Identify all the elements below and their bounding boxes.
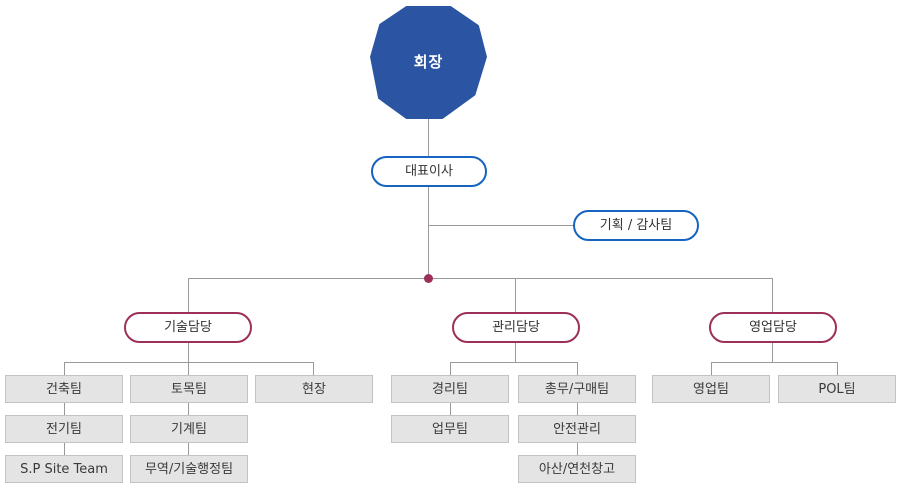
- junction-dot: [424, 274, 433, 283]
- connector-tech-c2-s2: [188, 443, 189, 455]
- connector-bus-to-tech: [188, 278, 189, 312]
- node-chairman[interactable]: 회장: [370, 6, 487, 119]
- node-team-civil-label: 토목팀: [171, 383, 207, 396]
- node-team-operations[interactable]: 업무팀: [391, 415, 509, 443]
- node-team-safety-management[interactable]: 안전관리: [518, 415, 636, 443]
- connector-admin-c2-s2: [577, 443, 578, 455]
- node-team-sp-site[interactable]: S.P Site Team: [5, 455, 123, 483]
- node-team-safety-management-label: 안전관리: [553, 423, 601, 436]
- node-division-tech-label: 기술담당: [164, 321, 212, 334]
- connector-admin-c1-s1: [450, 403, 451, 415]
- node-team-mechanical-label: 기계팀: [171, 423, 207, 436]
- connector-admin-stem: [515, 342, 516, 362]
- node-team-accounting[interactable]: 경리팀: [391, 375, 509, 403]
- node-team-general-affairs-purchasing[interactable]: 총무/구매팀: [518, 375, 636, 403]
- connector-tech-col2: [188, 362, 189, 375]
- connector-bus-to-admin: [515, 278, 516, 312]
- connector-bus-to-sales: [772, 278, 773, 312]
- node-planning-audit-team-label: 기획 / 감사팀: [600, 219, 672, 232]
- connector-division-bus: [188, 278, 773, 279]
- node-chairman-label: 회장: [414, 55, 444, 70]
- connector-tech-col3: [313, 362, 314, 375]
- node-team-asan-yeoncheon-warehouse[interactable]: 아산/연천창고: [518, 455, 636, 483]
- connector-sales-bus: [711, 362, 837, 363]
- node-team-trade-tech-admin-label: 무역/기술행정팀: [145, 463, 233, 476]
- connector-tech-c1-s1: [64, 403, 65, 415]
- connector-tech-c2-s1: [188, 403, 189, 415]
- connector-tech-col1: [64, 362, 65, 375]
- node-division-sales-label: 영업담당: [749, 321, 797, 334]
- node-division-sales[interactable]: 영업담당: [709, 312, 837, 343]
- node-team-pol[interactable]: POL팀: [778, 375, 896, 403]
- node-planning-audit-team[interactable]: 기획 / 감사팀: [573, 210, 699, 241]
- node-team-sales-label: 영업팀: [693, 383, 729, 396]
- node-ceo-label: 대표이사: [405, 165, 453, 178]
- connector-sales-stem: [772, 342, 773, 362]
- node-team-construction[interactable]: 건축팀: [5, 375, 123, 403]
- connector-ceo-to-junction: [428, 187, 429, 279]
- node-division-tech[interactable]: 기술담당: [124, 312, 252, 343]
- node-team-pol-label: POL팀: [818, 383, 855, 396]
- connector-sales-col1: [711, 362, 712, 375]
- node-team-electrical[interactable]: 전기팀: [5, 415, 123, 443]
- node-team-sp-site-label: S.P Site Team: [20, 463, 108, 476]
- connector-admin-bus: [450, 362, 577, 363]
- connector-admin-col1: [450, 362, 451, 375]
- connector-admin-c2-s1: [577, 403, 578, 415]
- node-team-civil[interactable]: 토목팀: [130, 375, 248, 403]
- node-team-electrical-label: 전기팀: [46, 423, 82, 436]
- node-division-admin-label: 관리담당: [492, 321, 540, 334]
- connector-tech-c1-s2: [64, 443, 65, 455]
- connector-chairman-to-ceo: [428, 118, 429, 156]
- org-chart: 회장 대표이사 기획 / 감사팀 기술담당 관리담당 영업담당 건축팀 전기팀 …: [0, 0, 900, 504]
- connector-sales-col2: [837, 362, 838, 375]
- node-team-trade-tech-admin[interactable]: 무역/기술행정팀: [130, 455, 248, 483]
- node-ceo[interactable]: 대표이사: [371, 156, 487, 187]
- connector-ceo-to-staff: [428, 225, 573, 226]
- node-team-site-label: 현장: [302, 383, 326, 396]
- node-team-operations-label: 업무팀: [432, 423, 468, 436]
- node-division-admin[interactable]: 관리담당: [452, 312, 580, 343]
- node-team-site[interactable]: 현장: [255, 375, 373, 403]
- node-team-accounting-label: 경리팀: [432, 383, 468, 396]
- node-team-sales[interactable]: 영업팀: [652, 375, 770, 403]
- node-team-mechanical[interactable]: 기계팀: [130, 415, 248, 443]
- connector-tech-stem: [188, 342, 189, 362]
- node-team-asan-yeoncheon-warehouse-label: 아산/연천창고: [539, 463, 615, 476]
- node-team-construction-label: 건축팀: [46, 383, 82, 396]
- node-team-general-affairs-purchasing-label: 총무/구매팀: [545, 383, 609, 396]
- connector-admin-col2: [577, 362, 578, 375]
